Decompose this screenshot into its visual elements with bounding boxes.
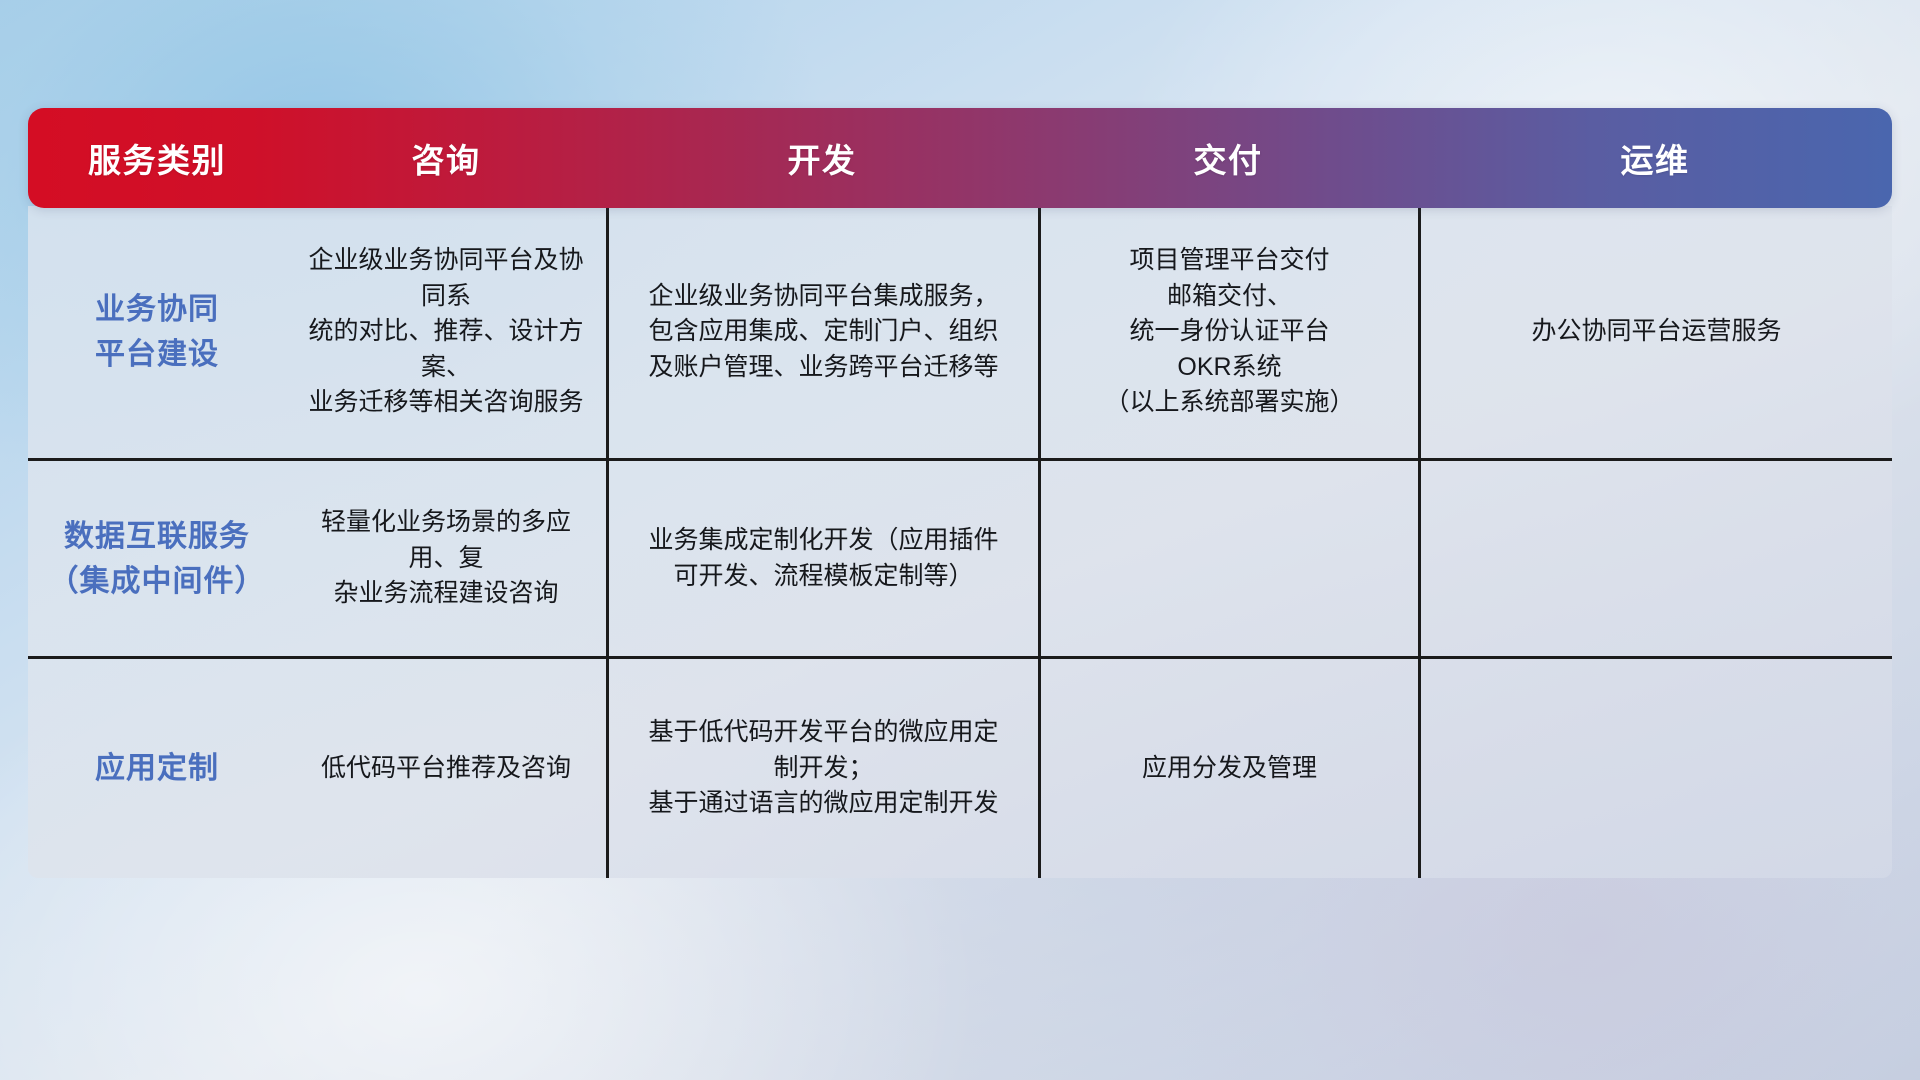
cell-delivery (1038, 461, 1418, 656)
column-header-consulting: 咨询 (286, 108, 606, 208)
table-row: 业务协同 平台建设 企业级业务协同平台及协同系 统的对比、推荐、设计方案、 业务… (28, 206, 1892, 458)
cell-consulting: 轻量化业务场景的多应用、复 杂业务流程建设咨询 (286, 461, 606, 656)
column-header-operations: 运维 (1418, 108, 1892, 208)
cell-category: 业务协同 平台建设 (28, 206, 286, 458)
service-matrix-table: 服务类别 咨询 开发 交付 运维 业务协同 平台建设 企业级业务协同平台及协同系… (28, 108, 1892, 780)
table-row: 数据互联服务 （集成中间件） 轻量化业务场景的多应用、复 杂业务流程建设咨询 业… (28, 458, 1892, 656)
slide-canvas: 服务类别 咨询 开发 交付 运维 业务协同 平台建设 企业级业务协同平台及协同系… (0, 0, 1920, 1080)
column-header-delivery: 交付 (1038, 108, 1418, 208)
cell-development: 基于低代码开发平台的微应用定 制开发； 基于通过语言的微应用定制开发 (606, 659, 1038, 878)
column-header-development: 开发 (606, 108, 1038, 208)
cell-development: 业务集成定制化开发（应用插件 可开发、流程模板定制等） (606, 461, 1038, 656)
cell-operations (1418, 461, 1892, 656)
cell-delivery: 项目管理平台交付 邮箱交付、 统一身份认证平台 OKR系统 （以上系统部署实施） (1038, 206, 1418, 458)
cell-consulting: 企业级业务协同平台及协同系 统的对比、推荐、设计方案、 业务迁移等相关咨询服务 (286, 206, 606, 458)
cell-operations: 办公协同平台运营服务 (1418, 206, 1892, 458)
table-body: 业务协同 平台建设 企业级业务协同平台及协同系 统的对比、推荐、设计方案、 业务… (28, 206, 1892, 878)
cell-delivery: 应用分发及管理 (1038, 659, 1418, 878)
cell-category: 数据互联服务 （集成中间件） (28, 461, 286, 656)
table-header-row: 服务类别 咨询 开发 交付 运维 (28, 108, 1892, 208)
cell-consulting: 低代码平台推荐及咨询 (286, 659, 606, 878)
table-row: 应用定制 低代码平台推荐及咨询 基于低代码开发平台的微应用定 制开发； 基于通过… (28, 656, 1892, 878)
cell-category: 应用定制 (28, 659, 286, 878)
cell-development: 企业级业务协同平台集成服务， 包含应用集成、定制门户、组织 及账户管理、业务跨平… (606, 206, 1038, 458)
column-header-service-category: 服务类别 (28, 108, 286, 208)
cell-operations (1418, 659, 1892, 878)
